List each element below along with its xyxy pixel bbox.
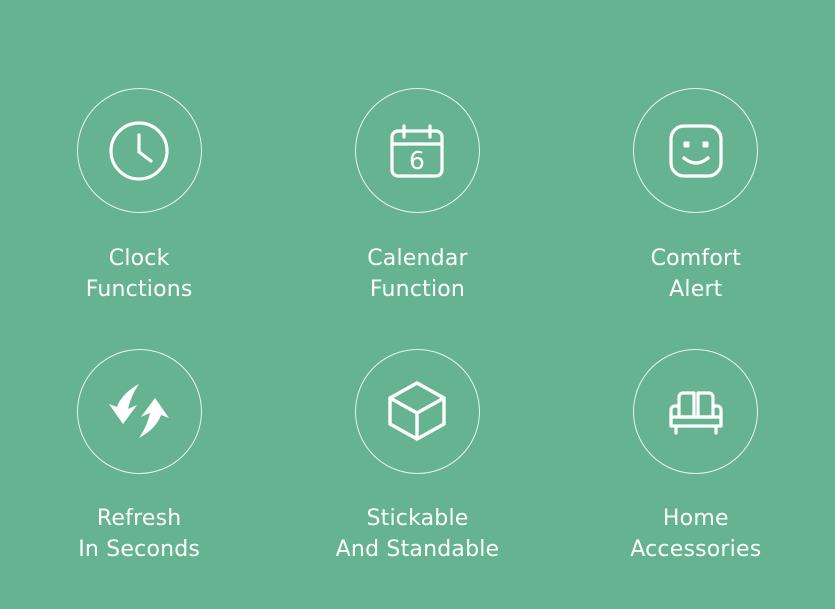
- feature-item-comfort-alert[interactable]: Comfort Alert: [557, 88, 835, 305]
- icon-ring-sofa: [633, 349, 758, 474]
- sofa-icon: [662, 377, 730, 445]
- feature-item-clock-functions[interactable]: Clock Functions: [0, 88, 278, 305]
- feature-grid: Clock Functions 6 Calendar Function: [0, 0, 835, 609]
- feature-label-home-accessories: Home Accessories: [630, 503, 761, 565]
- feature-label-calendar-function: Calendar Function: [367, 243, 468, 305]
- feature-item-stickable-and-standable[interactable]: Stickable And Standable: [278, 349, 556, 565]
- smiley-face-icon: [663, 118, 729, 184]
- icon-ring-cube: [355, 349, 480, 474]
- icon-ring-comfort: [633, 88, 758, 213]
- clock-icon: [107, 119, 171, 183]
- feature-board: Clock Functions 6 Calendar Function: [0, 0, 835, 609]
- calendar-day-number: 6: [410, 146, 426, 175]
- calendar-icon: 6: [384, 118, 450, 184]
- icon-ring-refresh: [77, 349, 202, 474]
- feature-item-calendar-function[interactable]: 6 Calendar Function: [278, 88, 556, 305]
- feature-label-comfort-alert: Comfort Alert: [651, 243, 742, 305]
- feature-label-stickable-and-standable: Stickable And Standable: [336, 503, 500, 565]
- feature-label-refresh-in-seconds: Refresh In Seconds: [78, 503, 200, 565]
- refresh-arrows-icon: [106, 378, 172, 444]
- icon-ring-clock: [77, 88, 202, 213]
- feature-item-home-accessories[interactable]: Home Accessories: [557, 349, 835, 565]
- cube-box-icon: [384, 378, 450, 444]
- feature-label-clock-functions: Clock Functions: [86, 243, 193, 305]
- feature-item-refresh-in-seconds[interactable]: Refresh In Seconds: [0, 349, 278, 565]
- icon-ring-calendar: 6: [355, 88, 480, 213]
